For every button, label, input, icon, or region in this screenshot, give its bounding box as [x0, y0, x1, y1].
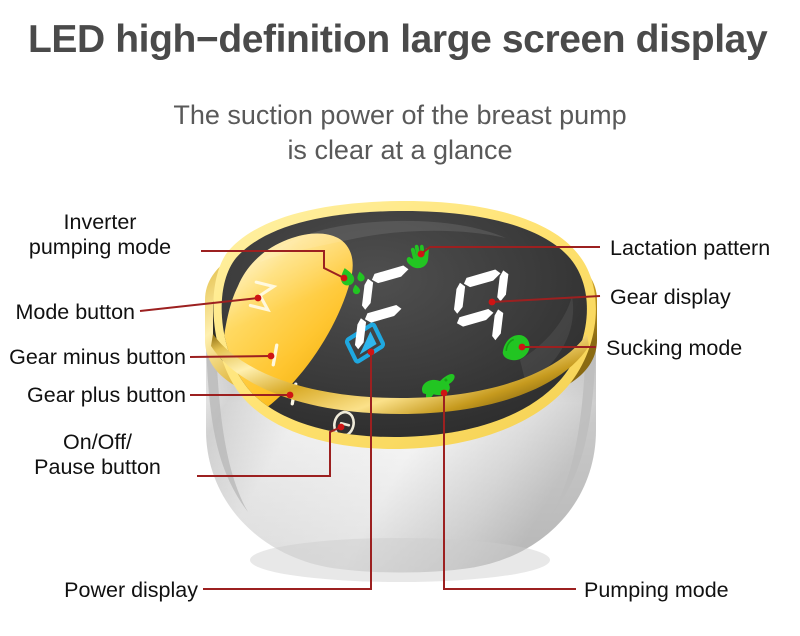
callout-inverter-pumping-mode-line2: pumping mode	[0, 235, 200, 260]
callout-lactation-pattern: Lactation pattern	[610, 236, 800, 261]
leader-gear-minus-button	[190, 356, 271, 357]
callout-mode-button: Mode button	[0, 300, 135, 325]
callout-gear-minus-button: Gear minus button	[0, 345, 186, 370]
callout-gear-plus-button: Gear plus button	[6, 383, 186, 408]
callout-inverter-pumping-mode-line1: Inverter	[0, 210, 200, 235]
callout-on-off-pause-line2: Pause button	[0, 455, 195, 480]
callout-power-display: Power display	[0, 578, 198, 603]
callout-gear-display: Gear display	[610, 285, 800, 310]
callout-on-off-pause-line1: On/Off/	[0, 430, 195, 455]
illustration-canvas: LED high−definition large screen display…	[0, 0, 800, 636]
callout-on-off-pause-button: On/Off/ Pause button	[0, 430, 195, 480]
callout-pumping-mode: Pumping mode	[584, 578, 800, 603]
callout-inverter-pumping-mode: Inverter pumping mode	[0, 210, 200, 260]
callout-sucking-mode: Sucking mode	[606, 336, 800, 361]
